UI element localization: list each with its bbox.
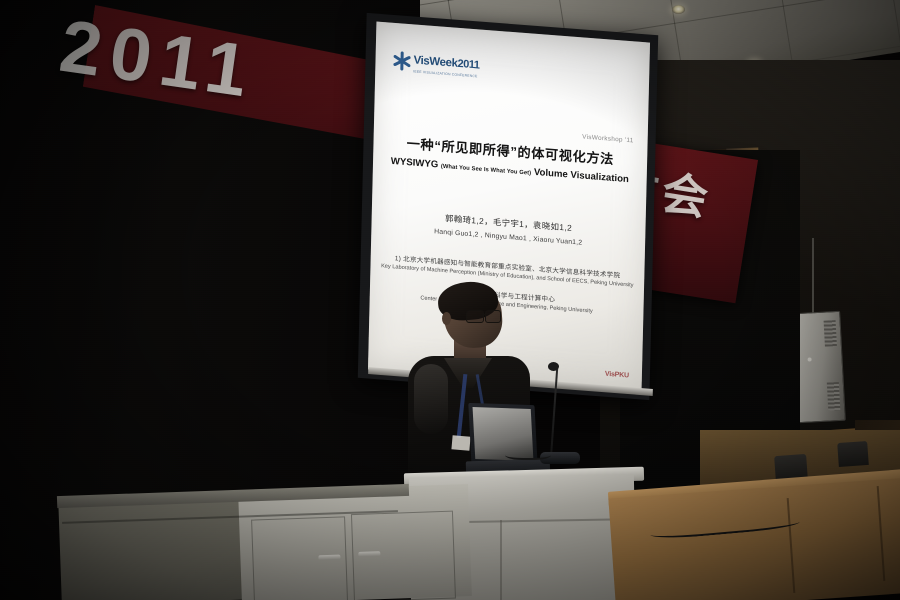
visweek-logo: VisWeek2011 IEEE VISUALIZATION CONFERENC… — [393, 49, 479, 79]
podium-seam — [500, 520, 502, 600]
workshop-label: VisWorkshop '11 — [582, 134, 634, 145]
ac-vent-icon — [824, 320, 837, 347]
logo-year: 2011 — [457, 58, 479, 72]
title-tail: Volume Visualization — [534, 166, 629, 184]
vispku-logo: VisPKU — [605, 371, 629, 380]
presenter-ear — [442, 312, 451, 325]
chair-back — [837, 441, 869, 467]
microphone-head-icon — [548, 362, 559, 371]
cabinet-handle[interactable] — [318, 555, 340, 561]
ac-indicator-icon — [807, 357, 811, 361]
ceiling-downlight — [672, 5, 685, 14]
glasses-icon — [466, 310, 502, 322]
title-acronym: WYSIWYG — [391, 155, 439, 170]
presentation-photo-scene: 2011 讨会 VisWeek2011 IEEE VISUALIZATION C… — [0, 0, 900, 600]
ac-pipe — [812, 238, 814, 316]
ac-vent-icon — [827, 382, 840, 411]
title-expansion: (What You See Is What You Get) — [441, 163, 532, 176]
authors-block: 郭翰琦1,2，毛宁宇1，袁晓如1,2 Hanqi Guo1,2 , Ningyu… — [371, 206, 645, 251]
snowflake-icon — [393, 52, 410, 70]
name-badge — [451, 435, 470, 451]
equipment-cabinet-right — [238, 484, 472, 600]
side-desk — [608, 478, 900, 600]
cabinet-handle[interactable] — [358, 551, 380, 557]
logo-name: VisWeek — [413, 54, 457, 69]
presenter-shoulder-highlight — [414, 364, 448, 434]
air-conditioner-unit — [792, 311, 846, 423]
cable — [505, 448, 551, 460]
